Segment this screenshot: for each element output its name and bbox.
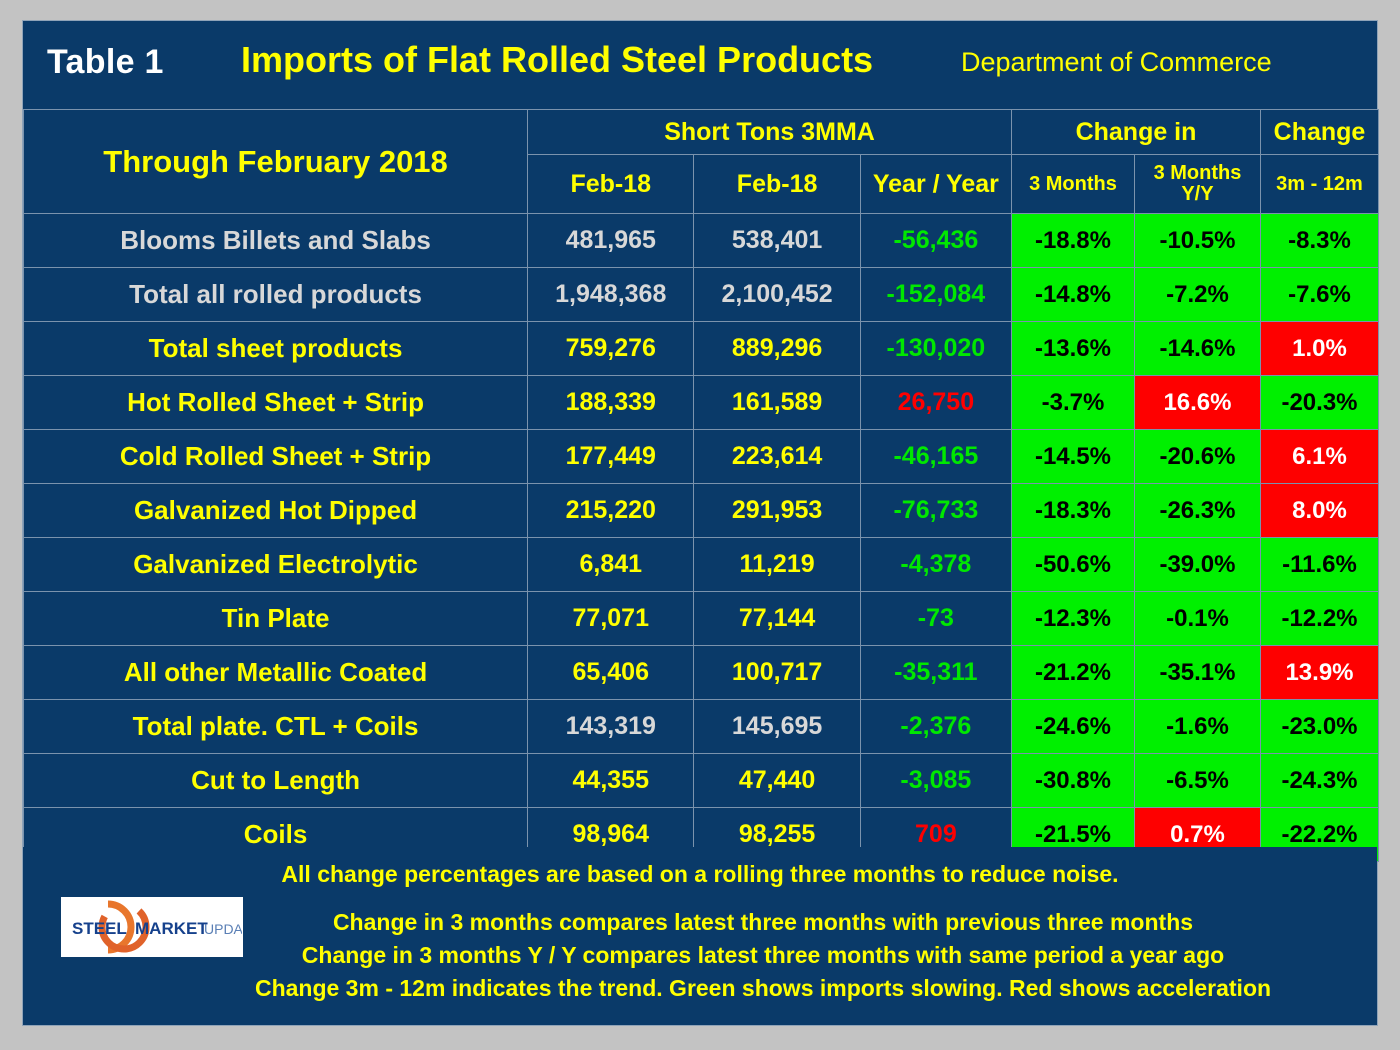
cell-change-3m-12m: -12.2%	[1260, 592, 1378, 646]
table-body: Blooms Billets and Slabs481,965538,401-5…	[24, 214, 1379, 862]
cell-change-3m-12m: -20.3%	[1260, 376, 1378, 430]
footnote-line-2: Change in 3 months Y / Y compares latest…	[203, 942, 1323, 969]
cell-change-3-months-yy: -20.6%	[1134, 430, 1260, 484]
cell-change-3-months: -13.6%	[1011, 322, 1134, 376]
table-head: Through February 2018 Short Tons 3MMA Ch…	[24, 110, 1379, 214]
cell-change-3-months: -3.7%	[1011, 376, 1134, 430]
cell-change-3-months-yy: -35.1%	[1134, 646, 1260, 700]
cell-feb18-b: 100,717	[694, 646, 860, 700]
cell-feb18-a: 215,220	[528, 484, 694, 538]
row-label: Galvanized Electrolytic	[24, 538, 528, 592]
cell-feb18-a: 481,965	[528, 214, 694, 268]
table-row: Galvanized Electrolytic6,84111,219-4,378…	[24, 538, 1379, 592]
footnote-line-1: Change in 3 months compares latest three…	[203, 909, 1323, 936]
cell-change-3-months: -14.8%	[1011, 268, 1134, 322]
footnote-line-3: Change 3m - 12m indicates the trend. Gre…	[203, 975, 1323, 1002]
header-row-groups: Through February 2018 Short Tons 3MMA Ch…	[24, 110, 1379, 155]
cell-year-over-year: -3,085	[860, 754, 1011, 808]
cell-year-over-year: -2,376	[860, 700, 1011, 754]
cell-change-3-months: -12.3%	[1011, 592, 1134, 646]
cell-change-3-months-yy: -0.1%	[1134, 592, 1260, 646]
cell-change-3m-12m: -24.3%	[1260, 754, 1378, 808]
table-number-label: Table 1	[47, 43, 164, 82]
cell-change-3m-12m: -8.3%	[1260, 214, 1378, 268]
row-label: Tin Plate	[24, 592, 528, 646]
cell-change-3-months-yy: -14.6%	[1134, 322, 1260, 376]
period-label: Through February 2018	[24, 110, 528, 214]
cell-change-3m-12m: 1.0%	[1260, 322, 1378, 376]
cell-year-over-year: -46,165	[860, 430, 1011, 484]
cell-change-3-months-yy: -6.5%	[1134, 754, 1260, 808]
cell-change-3m-12m: -11.6%	[1260, 538, 1378, 592]
cell-feb18-b: 145,695	[694, 700, 860, 754]
cell-change-3-months: -50.6%	[1011, 538, 1134, 592]
footer-notes: All change percentages are based on a ro…	[23, 847, 1377, 1025]
slide-canvas: Table 1 Imports of Flat Rolled Steel Pro…	[22, 20, 1378, 1026]
cell-year-over-year: -73	[860, 592, 1011, 646]
cell-feb18-b: 47,440	[694, 754, 860, 808]
table-row: Blooms Billets and Slabs481,965538,401-5…	[24, 214, 1379, 268]
cell-feb18-a: 759,276	[528, 322, 694, 376]
cell-change-3-months-yy: -39.0%	[1134, 538, 1260, 592]
cell-feb18-a: 1,948,368	[528, 268, 694, 322]
row-label: Hot Rolled Sheet + Strip	[24, 376, 528, 430]
row-label: Total all rolled products	[24, 268, 528, 322]
cell-feb18-b: 2,100,452	[694, 268, 860, 322]
cell-feb18-b: 11,219	[694, 538, 860, 592]
cell-feb18-a: 65,406	[528, 646, 694, 700]
cell-feb18-a: 143,319	[528, 700, 694, 754]
cell-change-3m-12m: 6.1%	[1260, 430, 1378, 484]
table-row: Total all rolled products1,948,3682,100,…	[24, 268, 1379, 322]
cell-year-over-year: -4,378	[860, 538, 1011, 592]
cell-change-3m-12m: 8.0%	[1260, 484, 1378, 538]
cell-change-3m-12m: -23.0%	[1260, 700, 1378, 754]
row-label: Cold Rolled Sheet + Strip	[24, 430, 528, 484]
cell-year-over-year: 26,750	[860, 376, 1011, 430]
cell-feb18-b: 161,589	[694, 376, 860, 430]
cell-year-over-year: -35,311	[860, 646, 1011, 700]
cell-feb18-a: 188,339	[528, 376, 694, 430]
imports-table-container: Through February 2018 Short Tons 3MMA Ch…	[23, 109, 1377, 862]
cell-change-3-months-yy: -7.2%	[1134, 268, 1260, 322]
table-row: Total sheet products759,276889,296-130,0…	[24, 322, 1379, 376]
cell-feb18-a: 6,841	[528, 538, 694, 592]
cell-change-3-months-yy: 16.6%	[1134, 376, 1260, 430]
cell-year-over-year: -56,436	[860, 214, 1011, 268]
cell-change-3m-12m: -7.6%	[1260, 268, 1378, 322]
cell-year-over-year: -152,084	[860, 268, 1011, 322]
page-title: Imports of Flat Rolled Steel Products	[241, 39, 873, 81]
data-source-label: Department of Commerce	[961, 47, 1272, 78]
title-bar: Table 1 Imports of Flat Rolled Steel Pro…	[23, 21, 1377, 109]
logo-word-market: MARKET	[135, 919, 208, 938]
cell-feb18-b: 889,296	[694, 322, 860, 376]
cell-change-3-months: -18.8%	[1011, 214, 1134, 268]
table-row: Hot Rolled Sheet + Strip188,339161,58926…	[24, 376, 1379, 430]
row-label: Galvanized Hot Dipped	[24, 484, 528, 538]
column-header-3-months-yy: 3 Months Y/Y	[1134, 155, 1260, 214]
column-header-year-over-year: Year / Year	[860, 155, 1011, 214]
cell-feb18-b: 291,953	[694, 484, 860, 538]
footnote-block: Change in 3 months compares latest three…	[203, 909, 1323, 1008]
cell-feb18-b: 223,614	[694, 430, 860, 484]
group-header-short-tons: Short Tons 3MMA	[528, 110, 1012, 155]
cell-year-over-year: -76,733	[860, 484, 1011, 538]
cell-change-3m-12m: 13.9%	[1260, 646, 1378, 700]
table-row: Total plate. CTL + Coils143,319145,695-2…	[24, 700, 1379, 754]
row-label: Blooms Billets and Slabs	[24, 214, 528, 268]
cell-change-3-months: -14.5%	[1011, 430, 1134, 484]
table-row: All other Metallic Coated65,406100,717-3…	[24, 646, 1379, 700]
cell-feb18-b: 538,401	[694, 214, 860, 268]
cell-change-3-months-yy: -10.5%	[1134, 214, 1260, 268]
cell-year-over-year: -130,020	[860, 322, 1011, 376]
table-row: Tin Plate77,07177,144-73-12.3%-0.1%-12.2…	[24, 592, 1379, 646]
table-row: Cut to Length44,35547,440-3,085-30.8%-6.…	[24, 754, 1379, 808]
row-label: Total sheet products	[24, 322, 528, 376]
footnote-main: All change percentages are based on a ro…	[23, 861, 1377, 888]
column-header-feb18-b: Feb-18	[694, 155, 860, 214]
cell-change-3-months: -18.3%	[1011, 484, 1134, 538]
cell-change-3-months: -21.2%	[1011, 646, 1134, 700]
column-header-3m-12m: 3m - 12m	[1260, 155, 1378, 214]
cell-change-3-months: -30.8%	[1011, 754, 1134, 808]
table-row: Galvanized Hot Dipped215,220291,953-76,7…	[24, 484, 1379, 538]
column-header-3-months: 3 Months	[1011, 155, 1134, 214]
imports-table: Through February 2018 Short Tons 3MMA Ch…	[23, 109, 1379, 862]
row-label: Cut to Length	[24, 754, 528, 808]
group-header-change: Change	[1260, 110, 1378, 155]
row-label: All other Metallic Coated	[24, 646, 528, 700]
cell-feb18-a: 77,071	[528, 592, 694, 646]
cell-feb18-a: 44,355	[528, 754, 694, 808]
column-header-3-months-yy-line2: Y/Y	[1181, 183, 1213, 205]
cell-feb18-b: 77,144	[694, 592, 860, 646]
cell-change-3-months-yy: -1.6%	[1134, 700, 1260, 754]
table-row: Cold Rolled Sheet + Strip177,449223,614-…	[24, 430, 1379, 484]
cell-feb18-a: 177,449	[528, 430, 694, 484]
row-label: Total plate. CTL + Coils	[24, 700, 528, 754]
column-header-feb18-a: Feb-18	[528, 155, 694, 214]
logo-word-steel: STEEL	[72, 919, 127, 938]
group-header-change-in: Change in	[1011, 110, 1260, 155]
cell-change-3-months-yy: -26.3%	[1134, 484, 1260, 538]
cell-change-3-months: -24.6%	[1011, 700, 1134, 754]
column-header-3-months-yy-line1: 3 Months	[1154, 162, 1242, 184]
